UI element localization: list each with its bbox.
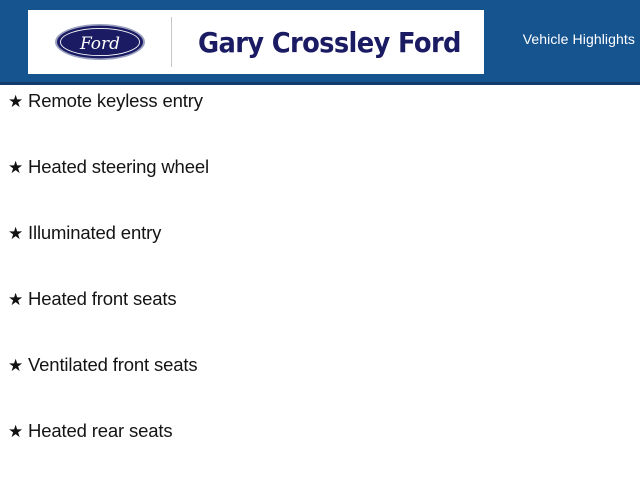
list-item-label: Heated front seats — [28, 290, 176, 309]
list-item: ★ Heated steering wheel — [0, 158, 640, 224]
star-bullet-icon: ★ — [8, 159, 28, 176]
list-item: ★ Heated front seats — [0, 290, 640, 356]
list-item-label: Illuminated entry — [28, 224, 161, 243]
dealer-logo-box[interactable]: Ford Gary Crossley Ford — [28, 10, 484, 74]
star-bullet-icon: ★ — [8, 357, 28, 374]
page-title: Vehicle Highlights — [523, 31, 635, 47]
list-item: ★ Ventilated front seats — [0, 356, 640, 422]
star-bullet-icon: ★ — [8, 291, 28, 308]
list-item-label: Remote keyless entry — [28, 92, 203, 111]
page-header: Ford Gary Crossley Ford Vehicle Highligh… — [0, 0, 640, 82]
header-underline — [0, 82, 640, 85]
list-item: ★ Remote keyless entry — [0, 92, 640, 158]
ford-oval-logo-icon: Ford — [44, 23, 155, 61]
svg-text:Ford: Ford — [79, 34, 120, 54]
star-bullet-icon: ★ — [8, 423, 28, 440]
logo-divider — [171, 17, 172, 67]
star-bullet-icon: ★ — [8, 225, 28, 242]
list-item-label: Heated steering wheel — [28, 158, 209, 177]
list-item-label: Ventilated front seats — [28, 356, 197, 375]
star-bullet-icon: ★ — [8, 93, 28, 110]
list-item-label: Heated rear seats — [28, 422, 173, 441]
list-item: ★ Heated rear seats — [0, 422, 640, 488]
list-item: ★ Illuminated entry — [0, 224, 640, 290]
vehicle-highlights-list: ★ Remote keyless entry ★ Heated steering… — [0, 92, 640, 488]
dealer-name-text: Gary Crossley Ford — [198, 26, 461, 59]
